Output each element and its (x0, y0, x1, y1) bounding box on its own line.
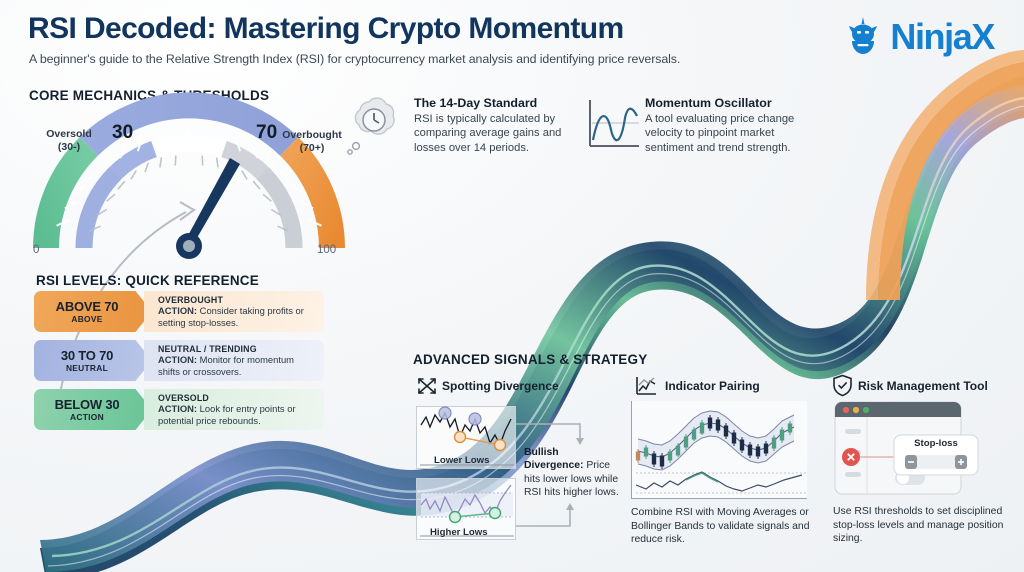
gauge-scale-max: 100 (317, 244, 336, 256)
indicator-pairing-caption: Combine RSI with Moving Averages or Boll… (631, 506, 813, 547)
level-tag-main: ABOVE 70 (56, 299, 119, 314)
section-heading-levels: RSI LEVELS: QUICK REFERENCE (36, 273, 259, 288)
gauge-scale-min: 0 (33, 244, 39, 256)
level-heading: NEUTRAL / TRENDING (158, 344, 318, 354)
list-item: BELOW 30 ACTION OVERSOLD ACTION: Look fo… (34, 389, 324, 430)
info-card-title: The 14-Day Standard (414, 96, 566, 110)
page-title: RSI Decoded: Mastering Crypto Momentum (28, 12, 624, 46)
gauge-oversold-label: Oversold(30-) (34, 128, 104, 154)
stop-loss-tooltip-label: Stop-loss (894, 438, 978, 449)
level-action: ACTION: Monitor for momentum shifts or c… (158, 354, 318, 377)
level-heading: OVERSOLD (158, 393, 318, 403)
bullish-divergence-callout: Bullish Divergence: Price hits lower low… (524, 446, 620, 500)
level-tag-main: 30 TO 70 (61, 348, 113, 363)
indicator-pairing-chart (631, 401, 807, 499)
level-tag: BELOW 30 ACTION (34, 389, 152, 430)
rsi-gauge: Oversold(30-) Overbought(70+) 30 70 0 10… (24, 108, 354, 260)
callout-label: Bullish Divergence: (524, 447, 583, 471)
subsection-title-divergence: Spotting Divergence (442, 379, 559, 393)
line-chart-icon (634, 375, 658, 397)
shield-check-icon (832, 374, 853, 397)
info-card-title: Momentum Oscillator (645, 96, 805, 110)
rsi-levels-list: ABOVE 70 ABOVE OVERBOUGHT ACTION: Consid… (34, 291, 324, 438)
level-body: OVERBOUGHT ACTION: Consider taking profi… (144, 291, 324, 332)
section-heading-advanced: ADVANCED SIGNALS & STRATEGY (413, 352, 647, 367)
page-subtitle: A beginner's guide to the Relative Stren… (29, 52, 680, 66)
level-tag-main: BELOW 30 (55, 397, 120, 412)
info-card-text: A tool evaluating price change velocity … (645, 112, 805, 155)
header: RSI Decoded: Mastering Crypto Momentum A… (0, 0, 1024, 82)
info-card-momentum: Momentum Oscillator A tool evaluating pr… (645, 96, 805, 155)
level-heading: OVERBOUGHT (158, 295, 318, 305)
ninja-helmet-icon (840, 14, 886, 60)
info-card-text: RSI is typically calculated by comparing… (414, 112, 566, 155)
list-item: ABOVE 70 ABOVE OVERBOUGHT ACTION: Consid… (34, 291, 324, 332)
level-action: ACTION: Look for entry points or potenti… (158, 403, 318, 426)
risk-tool-caption: Use RSI thresholds to set disciplined st… (833, 505, 1008, 546)
list-item: 30 TO 70 NEUTRAL NEUTRAL / TRENDING ACTI… (34, 340, 324, 381)
level-tag-sub: ACTION (70, 412, 104, 422)
level-body: NEUTRAL / TRENDING ACTION: Monitor for m… (144, 340, 324, 381)
subsection-title-indicator: Indicator Pairing (665, 379, 760, 393)
subsection-title-risk: Risk Management Tool (858, 379, 988, 393)
level-action: ACTION: Consider taking profits or setti… (158, 305, 318, 328)
level-tag: ABOVE 70 ABOVE (34, 291, 152, 332)
risk-tool-mockup: Stop-loss (833, 400, 988, 498)
level-tag-sub: ABOVE (71, 314, 102, 324)
caption-lower-lows: Lower Lows (434, 455, 489, 466)
caption-higher-lows: Higher Lows (430, 527, 488, 538)
info-card-14-day: The 14-Day Standard RSI is typically cal… (414, 96, 566, 155)
gauge-needle (176, 158, 240, 259)
oscillator-wave-icon (585, 96, 643, 154)
level-tag: 30 TO 70 NEUTRAL (34, 340, 152, 381)
gauge-threshold-70: 70 (256, 122, 277, 144)
level-body: OVERSOLD ACTION: Look for entry points o… (144, 389, 324, 430)
level-tag-sub: NEUTRAL (66, 363, 108, 373)
logo-text: NinjaX (890, 16, 994, 58)
gauge-threshold-30: 30 (112, 122, 133, 144)
clock-cloud-icon (340, 96, 406, 158)
divergence-arrows-icon (416, 376, 438, 396)
brand-logo: NinjaX (840, 14, 994, 60)
